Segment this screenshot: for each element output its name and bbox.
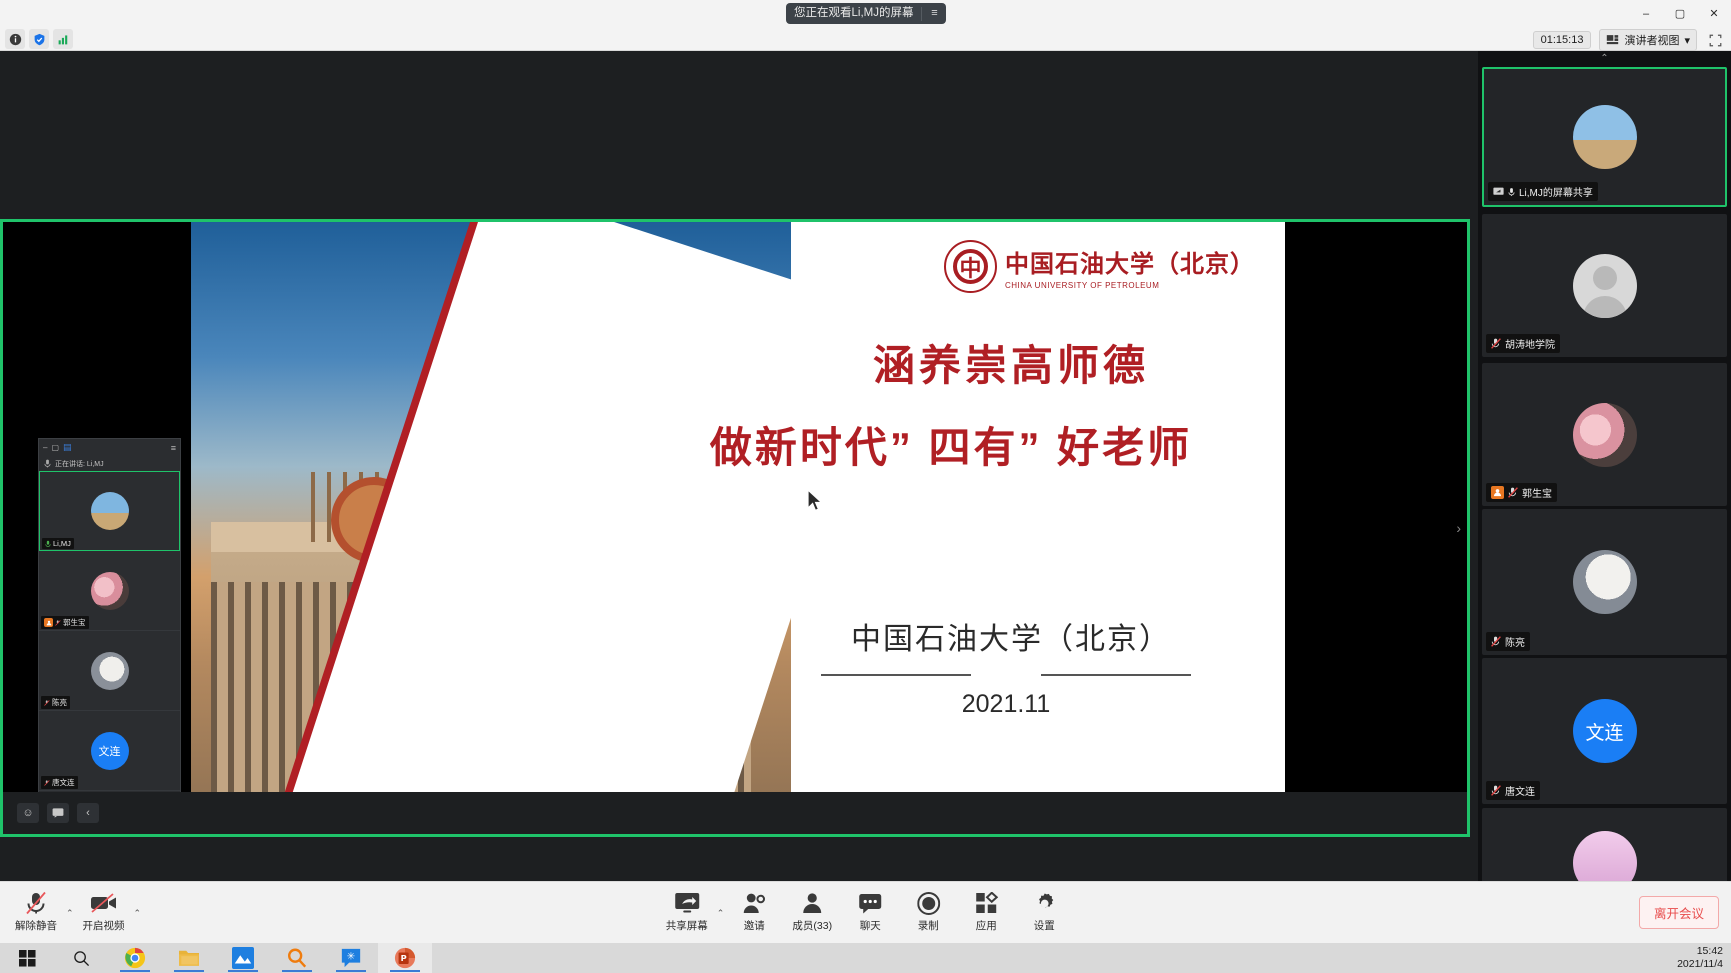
rail-tile-guoshengbao[interactable]: 郭生宝 [1482, 363, 1727, 506]
record-icon [917, 891, 940, 915]
settings-icon [1033, 891, 1056, 915]
running-indicator [336, 970, 366, 973]
window-controls: – ▢ ✕ [1629, 0, 1731, 27]
inner-tile-label: 唐文连 [41, 776, 78, 789]
participants-rail: ⌃ Li,MJ的屏幕共享 胡涛地学院 [1478, 51, 1731, 881]
svg-text:P: P [401, 953, 407, 963]
mute-button[interactable]: 解除静音 [8, 888, 64, 933]
university-name-cn: 中国石油大学（北京） [1005, 244, 1255, 279]
rail-tile-hutao[interactable]: 胡涛地学院 [1482, 214, 1727, 357]
mic-muted-icon [44, 779, 50, 787]
label-text: 胡涛地学院 [1505, 336, 1555, 351]
shared-screen-content: 中 中国石油大学（北京） CHINA UNIVERSITY OF PETROLE… [3, 222, 1467, 834]
meeting-sub-bar: 01:15:13 演讲者视图 ▾ [0, 27, 1731, 51]
meeting-timer: 01:15:13 [1533, 31, 1592, 49]
inner-tile-limj[interactable]: Li,MJ [39, 471, 180, 551]
windows-taskbar: ✳ P 15:42 2021/11/4 [0, 943, 1731, 973]
screen-share-icon [1493, 187, 1504, 197]
avatar-initials: 文连 [1573, 699, 1637, 763]
record-label: 录制 [918, 918, 939, 933]
chat-icon [858, 891, 882, 915]
label-text: Li,MJ的屏幕共享 [1519, 184, 1593, 199]
mic-muted-icon [1491, 636, 1501, 647]
title-bar: 您正在观看Li,MJ的屏幕 ≡ – ▢ ✕ [0, 0, 1731, 27]
running-indicator [120, 970, 150, 973]
close-button[interactable]: ✕ [1697, 0, 1731, 27]
view-mode-label: 演讲者视图 [1624, 32, 1679, 48]
panel-expand-arrow-icon[interactable]: › [1456, 520, 1461, 536]
slide-organization: 中国石油大学（北京） [731, 614, 1285, 658]
label-text: 陈亮 [1505, 634, 1525, 649]
screen-share-icon [674, 891, 700, 915]
taskbar-powerpoint[interactable]: P [378, 943, 432, 973]
slide-title-line1: 涵养崇高师德 [751, 332, 1271, 393]
inner-bottom-toolbar: ☺ ‹ [3, 792, 1467, 834]
inner-speaking-text: 正在讲话: Li,MJ [55, 459, 104, 469]
mic-muted-icon [1491, 338, 1501, 349]
avatar [1573, 550, 1637, 614]
inner-tile-label: 郭生宝 [41, 616, 89, 629]
video-options-caret[interactable]: ⌃ [134, 908, 142, 933]
speaker-view-icon [1606, 34, 1619, 46]
avatar [91, 492, 129, 530]
inner-minimize-icon[interactable]: – [43, 443, 47, 452]
rail-tile-label: 唐文连 [1486, 781, 1540, 800]
host-badge-icon [44, 618, 53, 627]
sub-bar-left-icons [5, 29, 73, 49]
record-button[interactable]: 录制 [900, 888, 956, 933]
rail-tile-label: 胡涛地学院 [1486, 334, 1560, 353]
inner-tile-chenliang[interactable]: 陈亮 [39, 631, 180, 711]
label-text: 唐文连 [1505, 783, 1535, 798]
avatar [1573, 105, 1637, 169]
search-button[interactable] [54, 943, 108, 973]
taskbar-everything-search[interactable] [270, 943, 324, 973]
slide-date: 2021.11 [791, 690, 1221, 719]
rail-tile-label: 陈亮 [1486, 632, 1530, 651]
mute-options-caret[interactable]: ⌃ [66, 908, 74, 933]
emoji-icon[interactable]: ☺ [17, 803, 39, 823]
running-indicator [390, 970, 420, 973]
mic-icon [44, 459, 51, 468]
start-button[interactable] [0, 943, 54, 973]
mute-label: 解除静音 [15, 918, 57, 933]
inner-restore-icon[interactable]: ▢ [51, 443, 59, 452]
apps-button[interactable]: 应用 [958, 888, 1014, 933]
taskbar-wps[interactable]: ✳ [324, 943, 378, 973]
slide-title-line2: 做新时代” 四有” 好老师 [631, 414, 1271, 475]
taskbar-chrome[interactable] [108, 943, 162, 973]
video-label: 开启视频 [83, 918, 125, 933]
invite-icon [742, 891, 766, 915]
mic-muted-icon [44, 699, 50, 707]
inner-list-icon[interactable]: ▤ [63, 442, 72, 453]
university-seal-icon: 中 [944, 240, 997, 293]
minimize-button[interactable]: – [1629, 0, 1663, 27]
avatar-initials: 文连 [91, 732, 129, 770]
participants-icon [801, 891, 823, 915]
rail-tile-label: Li,MJ的屏幕共享 [1488, 182, 1598, 201]
avatar-default [1573, 254, 1637, 318]
apps-icon [975, 891, 998, 915]
running-indicator [174, 970, 204, 973]
slide-divider [791, 670, 1221, 680]
signal-icon[interactable] [53, 29, 73, 49]
label-text: Li,MJ [53, 539, 71, 548]
inner-tile-label: Li,MJ [42, 538, 74, 549]
avatar-initials-text: 文连 [1585, 718, 1623, 745]
university-name-en: CHINA UNIVERSITY OF PETROLEUM [1005, 281, 1255, 290]
clock-time: 15:42 [1697, 945, 1723, 958]
apps-label: 应用 [976, 918, 997, 933]
label-text: 郭生宝 [1522, 485, 1552, 500]
video-button[interactable]: 开启视频 [76, 888, 132, 933]
toolbar-center-group: 共享屏幕 ⌃ 邀请 [659, 888, 1073, 933]
rail-tile-screen-share[interactable]: Li,MJ的屏幕共享 [1482, 67, 1727, 207]
mic-icon [1508, 187, 1515, 197]
chat-label: 聊天 [860, 918, 881, 933]
participants-label: 成员(33) [792, 918, 832, 933]
svg-text:✳: ✳ [347, 951, 355, 962]
banner-menu-icon[interactable]: ≡ [922, 3, 946, 24]
seal-char: 中 [959, 251, 981, 283]
toolbar-left-group: 解除静音 ⌃ 开启视频 ⌃ [8, 888, 141, 933]
maximize-button[interactable]: ▢ [1663, 0, 1697, 27]
collapse-icon[interactable]: ‹ [77, 803, 99, 823]
host-badge-icon [1491, 486, 1504, 499]
leave-meeting-button[interactable]: 离开会议 [1639, 896, 1719, 929]
label-text: 唐文连 [52, 777, 75, 788]
settings-button[interactable]: 设置 [1016, 888, 1072, 933]
settings-label: 设置 [1034, 918, 1055, 933]
taskbar-photos[interactable] [216, 943, 270, 973]
invite-button[interactable]: 邀请 [726, 888, 782, 933]
share-banner-text: 您正在观看Li,MJ的屏幕 [786, 3, 921, 24]
rail-tile-chenliang[interactable]: 陈亮 [1482, 509, 1727, 655]
mic-icon [45, 540, 51, 548]
participants-button[interactable]: 成员(33) [784, 888, 840, 933]
shield-icon[interactable] [29, 29, 49, 49]
rail-scroll-up-button[interactable]: ⌃ [1478, 51, 1731, 65]
taskbar-file-explorer[interactable] [162, 943, 216, 973]
chat-icon[interactable] [47, 803, 69, 823]
view-mode-dropdown[interactable]: 演讲者视图 ▾ [1599, 29, 1697, 51]
share-screen-caret[interactable]: ⌃ [717, 908, 725, 933]
mic-muted-icon [1491, 785, 1501, 796]
taskbar-clock[interactable]: 15:42 2021/11/4 [1677, 943, 1723, 973]
share-screen-label: 共享屏幕 [666, 918, 708, 933]
invite-label: 邀请 [744, 918, 765, 933]
shared-screen-stage: 中 中国石油大学（北京） CHINA UNIVERSITY OF PETROLE… [0, 51, 1478, 881]
share-banner[interactable]: 您正在观看Li,MJ的屏幕 ≡ [786, 3, 946, 24]
rail-tile-label: 郭生宝 [1486, 483, 1557, 502]
rail-tile-tangwenlian[interactable]: 文连 唐文连 [1482, 658, 1727, 804]
info-icon[interactable] [5, 29, 25, 49]
running-indicator [282, 970, 312, 973]
avatar-initials-text: 文连 [99, 743, 121, 759]
presentation-slide: 中 中国石油大学（北京） CHINA UNIVERSITY OF PETROLE… [191, 222, 1285, 834]
mic-muted-icon [25, 891, 47, 915]
inner-tile-tangwenlian[interactable]: 文连 唐文连 [39, 711, 180, 791]
avatar [1573, 403, 1637, 467]
share-screen-button[interactable]: 共享屏幕 [659, 888, 715, 933]
shared-screen-frame: 中 中国石油大学（北京） CHINA UNIVERSITY OF PETROLE… [0, 219, 1470, 837]
meeting-window: 您正在观看Li,MJ的屏幕 ≡ – ▢ ✕ [0, 0, 1731, 973]
meeting-toolbar: 解除静音 ⌃ 开启视频 ⌃ [0, 881, 1731, 943]
running-indicator [228, 970, 258, 973]
label-text: 陈亮 [52, 697, 67, 708]
inner-speaking-indicator: 正在讲话: Li,MJ [39, 456, 180, 471]
chat-button[interactable]: 聊天 [842, 888, 898, 933]
avatar [91, 652, 129, 690]
mic-muted-icon [55, 619, 61, 627]
inner-panel-header: – ▢ ▤ ≡ [39, 439, 180, 456]
inner-menu-icon[interactable]: ≡ [171, 443, 176, 453]
sub-bar-right-controls: 01:15:13 演讲者视图 ▾ [1533, 29, 1725, 51]
mic-muted-icon [1508, 487, 1518, 498]
avatar [91, 572, 129, 610]
fullscreen-button[interactable] [1705, 31, 1725, 49]
chevron-down-icon: ▾ [1684, 34, 1690, 47]
clock-date: 2021/11/4 [1677, 958, 1723, 971]
label-text: 郭生宝 [63, 617, 86, 628]
inner-tile-guoshengbao[interactable]: 郭生宝 [39, 551, 180, 631]
camera-muted-icon [89, 891, 119, 915]
university-logo: 中 中国石油大学（北京） CHINA UNIVERSITY OF PETROLE… [944, 240, 1255, 293]
inner-tile-label: 陈亮 [41, 696, 70, 709]
inner-participants-panel: – ▢ ▤ ≡ 正在讲话: Li,MJ Li,MJ [38, 438, 181, 834]
